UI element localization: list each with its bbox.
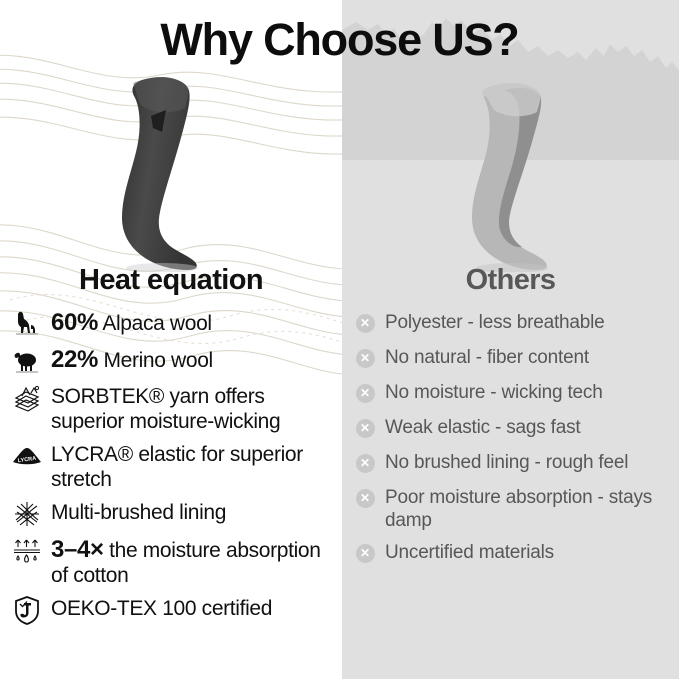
list-item-text: SORBTEK® yarn offers superior moisture-w… bbox=[51, 383, 334, 434]
list-item-text: Poor moisture absorption - stays damp bbox=[385, 484, 671, 532]
list-item: ✕ Poor moisture absorption - stays damp bbox=[342, 484, 679, 532]
list-item: Multi-brushed lining bbox=[0, 499, 342, 529]
fabric-layers-icon bbox=[10, 383, 44, 413]
list-item-text: 3–4× the moisture absorption of cotton bbox=[51, 536, 334, 588]
alpaca-wool-sock-image bbox=[96, 72, 236, 272]
x-badge: ✕ bbox=[356, 384, 375, 403]
benefits-list: 60% Alpaca wool 22% Merino wool bbox=[0, 309, 342, 625]
list-item: 22% Merino wool bbox=[0, 346, 342, 376]
x-badge: ✕ bbox=[356, 454, 375, 473]
shield-sock-icon bbox=[10, 595, 44, 625]
generic-sock-image bbox=[452, 72, 592, 272]
left-column-heading: Heat equation bbox=[0, 264, 342, 297]
list-item-text: No brushed lining - rough feel bbox=[385, 449, 628, 474]
list-item-text: OEKO-TEX 100 certified bbox=[51, 595, 272, 621]
brushed-mesh-icon bbox=[10, 499, 44, 529]
list-item: ✕ No moisture - wicking tech bbox=[342, 379, 679, 407]
list-item-text: Uncertified materials bbox=[385, 539, 554, 564]
page-title: Why Choose US? bbox=[0, 14, 679, 66]
x-badge: ✕ bbox=[356, 419, 375, 438]
x-circle-icon: ✕ bbox=[354, 484, 376, 512]
infographic-page: Why Choose US? Heat equation 60% Alpaca … bbox=[0, 0, 679, 679]
x-badge: ✕ bbox=[356, 314, 375, 333]
x-circle-icon: ✕ bbox=[354, 309, 376, 337]
list-item-text: No moisture - wicking tech bbox=[385, 379, 603, 404]
list-item: ✕ No natural - fiber content bbox=[342, 344, 679, 372]
x-badge: ✕ bbox=[356, 489, 375, 508]
alpaca-icon bbox=[10, 309, 44, 339]
list-item-text: Polyester - less breathable bbox=[385, 309, 605, 334]
list-item-text: No natural - fiber content bbox=[385, 344, 589, 369]
list-item: 60% Alpaca wool bbox=[0, 309, 342, 339]
list-item: 3–4× the moisture absorption of cotton bbox=[0, 536, 342, 588]
list-item-text: LYCRA® elastic for superior stretch bbox=[51, 441, 334, 492]
x-circle-icon: ✕ bbox=[354, 449, 376, 477]
drawbacks-list: ✕ Polyester - less breathable ✕ No natur… bbox=[342, 309, 679, 567]
x-circle-icon: ✕ bbox=[354, 414, 376, 442]
list-item-text: 60% Alpaca wool bbox=[51, 309, 212, 336]
x-circle-icon: ✕ bbox=[354, 379, 376, 407]
x-circle-icon: ✕ bbox=[354, 539, 376, 567]
x-badge: ✕ bbox=[356, 544, 375, 563]
stat-value: 3–4× bbox=[51, 536, 104, 563]
list-item-text: Multi-brushed lining bbox=[51, 499, 226, 525]
right-column-heading: Others bbox=[342, 264, 679, 297]
list-item: ✕ Weak elastic - sags fast bbox=[342, 414, 679, 442]
x-badge: ✕ bbox=[356, 349, 375, 368]
lycra-logo-icon: LYCRA bbox=[10, 441, 44, 471]
x-circle-icon: ✕ bbox=[354, 344, 376, 372]
list-item: ✕ No brushed lining - rough feel bbox=[342, 449, 679, 477]
list-item: SORBTEK® yarn offers superior moisture-w… bbox=[0, 383, 342, 434]
stat-value: 22% bbox=[51, 346, 98, 373]
stat-value: 60% bbox=[51, 309, 98, 336]
sheep-icon bbox=[10, 346, 44, 376]
moisture-arrows-icon bbox=[10, 536, 44, 566]
list-item-text: Weak elastic - sags fast bbox=[385, 414, 580, 439]
list-item: ✕ Polyester - less breathable bbox=[342, 309, 679, 337]
others-column: Others ✕ Polyester - less breathable ✕ N… bbox=[342, 264, 679, 574]
list-item-text: 22% Merino wool bbox=[51, 346, 213, 373]
list-item: LYCRA LYCRA® elastic for superior stretc… bbox=[0, 441, 342, 492]
list-item: OEKO-TEX 100 certified bbox=[0, 595, 342, 625]
list-item: ✕ Uncertified materials bbox=[342, 539, 679, 567]
heat-equation-column: Heat equation 60% Alpaca wool bbox=[0, 264, 342, 632]
